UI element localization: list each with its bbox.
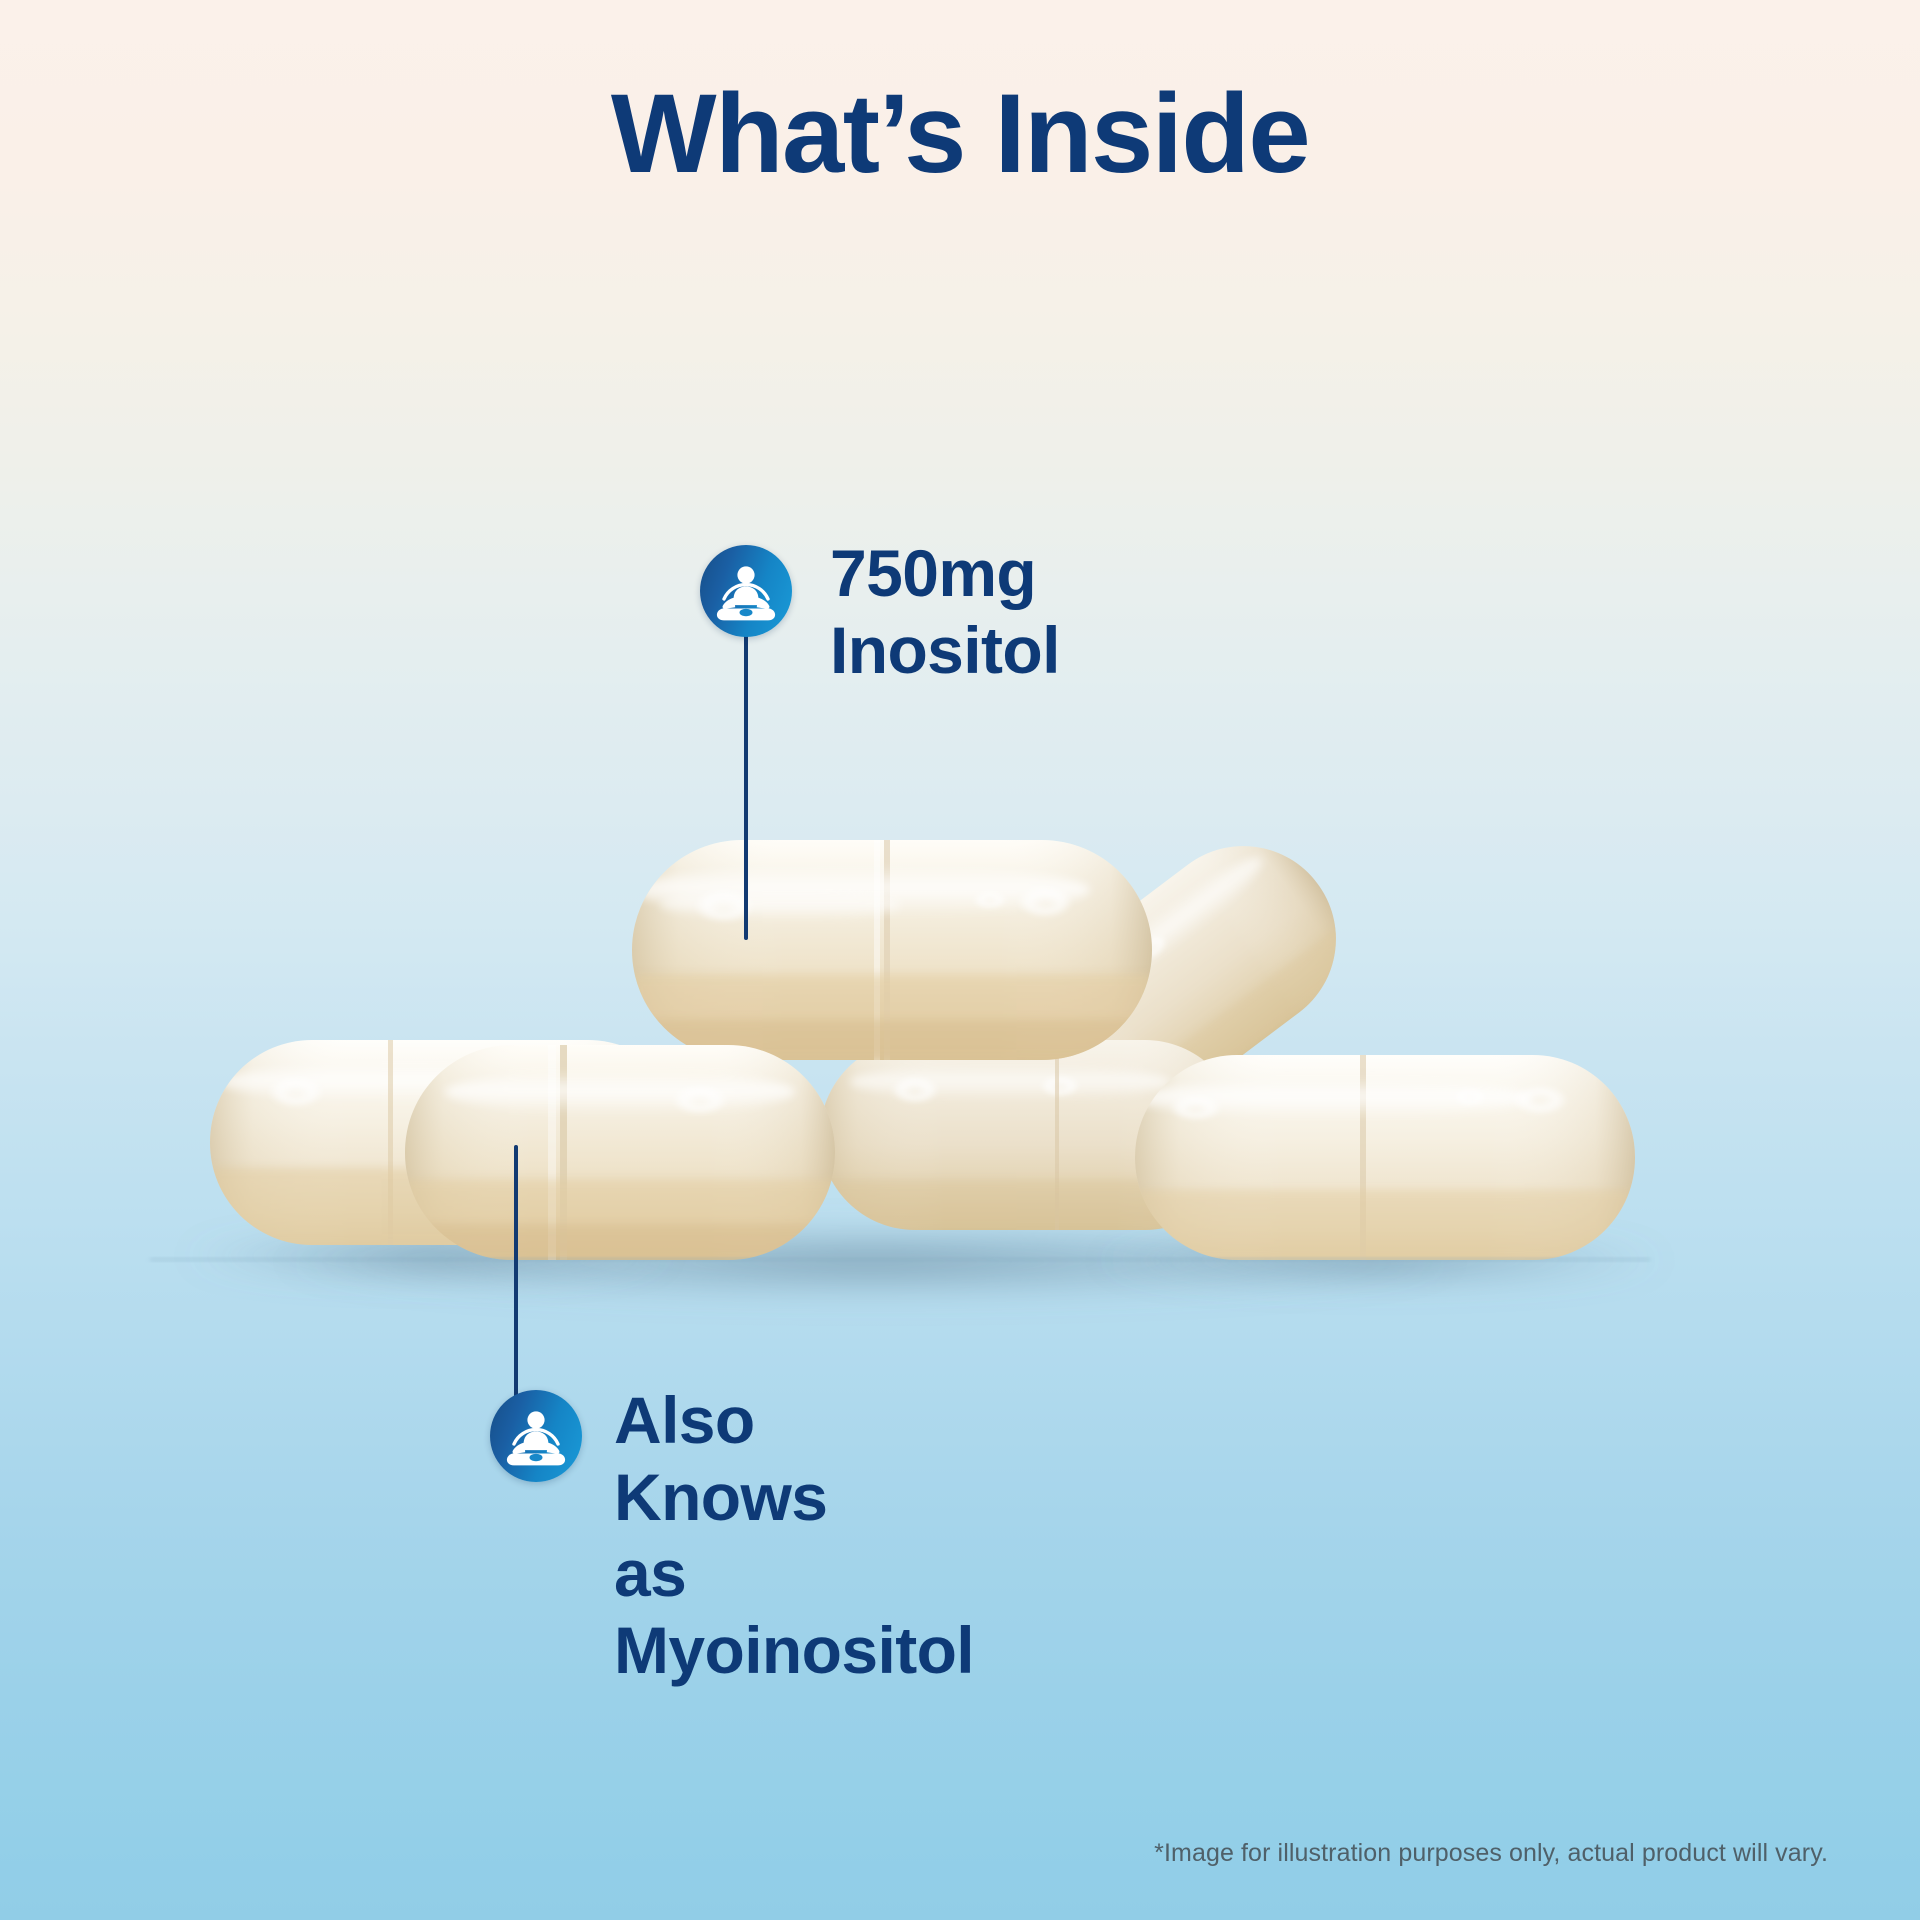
callout-also-known-as-label: Also Knows as Myoinositol (614, 1382, 974, 1688)
callout-connector-line (744, 620, 748, 940)
callout-connector-line (514, 1145, 518, 1405)
product-infographic: What’s Inside (0, 0, 1920, 1920)
disclaimer-footnote: *Image for illustration purposes only, a… (1154, 1839, 1828, 1868)
meditation-lotus-icon (490, 1390, 582, 1482)
callout-inositol-dose-label: 750mg Inositol (830, 535, 1060, 688)
page-title: What’s Inside (0, 78, 1920, 190)
meditation-lotus-icon (700, 545, 792, 637)
